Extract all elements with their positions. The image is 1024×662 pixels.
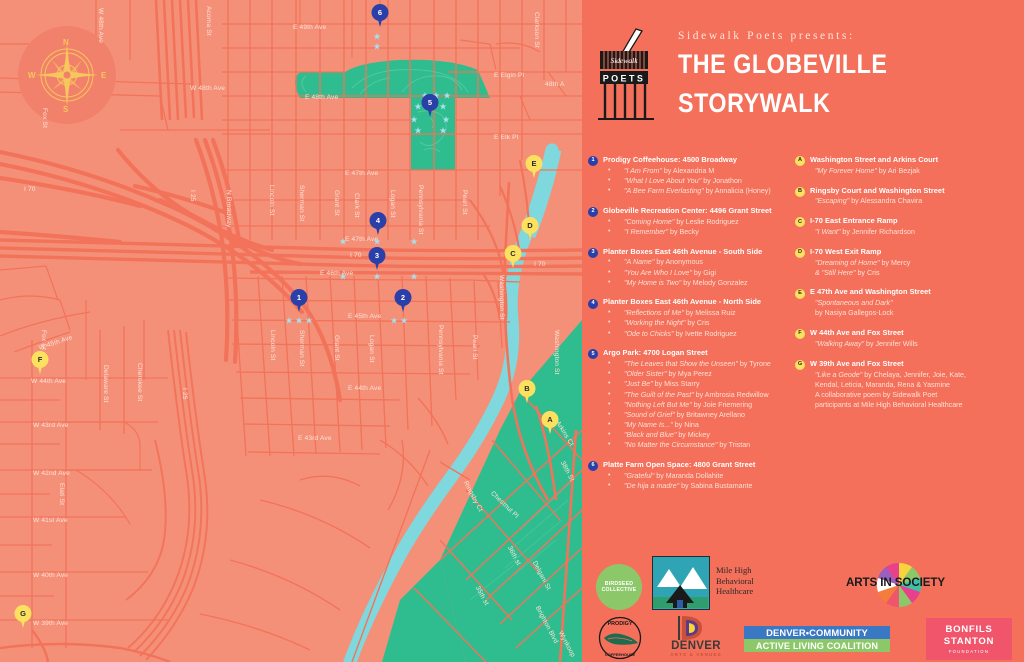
denver-wordmark: DENVER — [656, 640, 736, 652]
page-title-line1: THE GLOBEVILLE — [678, 49, 888, 81]
legend-entry-5[interactable]: 5Argo Park: 4700 Logan Street•"The Leave… — [586, 348, 794, 450]
poem-list: "Walking Away" by Jennifer Wills — [810, 339, 1021, 349]
poem-author: by Nasiya Gallegos-Lock — [815, 309, 893, 317]
poem-title: "Grateful" — [624, 472, 654, 480]
bullet-icon: • — [608, 420, 610, 430]
bonfils-foundation: FOUNDATION — [949, 649, 989, 654]
map-pin-2[interactable]: 2 — [395, 289, 412, 312]
compass-west-label: W — [28, 71, 36, 80]
logo-bonfils-stanton-foundation: BONFILS STANTON FOUNDATION — [926, 618, 1012, 660]
page-title-line2: STORYWALK — [678, 88, 888, 120]
poem-author: by Britawney Arellano — [675, 411, 745, 419]
logo-arts-in-society: ARTS IN SOCIETY — [788, 560, 1010, 610]
legend-entry-C[interactable]: CI-70 East Entrance Ramp"I Want" by Jenn… — [793, 216, 1021, 237]
poem-star-icon: ★ — [410, 238, 419, 247]
poem-item: •"De hija a madre" by Sabina Bustamante — [603, 481, 794, 491]
poem-list: "Spontaneous and Dark"by Nasiya Gallegos… — [810, 298, 1021, 318]
poem-star-icon: ★ — [305, 317, 314, 326]
dcalc-line2: ACTIVE LIVING COALITION — [744, 639, 890, 652]
poem-title: "Dreaming of Home" — [815, 259, 880, 267]
logo-prodigy-coffeehouse: PRODIGY COFFEEHOUSE — [594, 616, 646, 660]
legend-badge: E — [795, 289, 805, 299]
map-pin-4[interactable]: 4 — [370, 212, 387, 235]
bullet-icon: • — [608, 410, 610, 420]
legend-entry-4[interactable]: 4Planter Boxes East 46th Avenue - North … — [586, 297, 794, 338]
svg-text:COFFEEHOUSE: COFFEEHOUSE — [605, 652, 636, 657]
poem-item: •"I Am From" by Alexandria M — [603, 166, 794, 176]
pin-label: 3 — [369, 247, 386, 263]
map-pin-b[interactable]: B — [519, 380, 536, 403]
poem-author: by Mickey — [676, 431, 710, 439]
poem-title: "I Am From" — [624, 167, 662, 175]
mountain-house-icon — [652, 556, 710, 610]
legend-badge: 5 — [588, 349, 598, 359]
bullet-icon: • — [608, 166, 610, 176]
poem-item: & "Still Here" by Cris — [810, 268, 1021, 278]
poem-title: "Walking Away" — [815, 340, 864, 348]
poem-author: by Cris — [856, 269, 880, 277]
map-pin-d[interactable]: D — [522, 217, 539, 240]
poem-author: by Jennifer Wills — [864, 340, 918, 348]
poem-item: •"Grateful" by Maranda Dollahite — [603, 471, 794, 481]
poem-item: "Spontaneous and Dark" — [810, 298, 1021, 308]
poem-star-icon: ★ — [373, 33, 382, 42]
bullet-icon: • — [608, 278, 610, 288]
poem-item: •"A Name" by Anonymous — [603, 257, 794, 267]
legend-entry-G[interactable]: GW 39th Ave and Fox Street"Like a Geode"… — [793, 359, 1021, 410]
poem-item: "Walking Away" by Jennifer Wills — [810, 339, 1021, 349]
bullet-icon: • — [608, 379, 610, 389]
legend-entry-title: Argo Park: 4700 Logan Street — [603, 348, 794, 358]
poem-author: by Tristan — [717, 441, 750, 449]
poster-header: Sidewalk POETS Sidewalk Poets presents: … — [596, 22, 1016, 142]
poem-title: "I Remember" — [624, 228, 668, 236]
bonfils-word2: STANTON — [944, 636, 994, 647]
legend-entry-title: W 39th Ave and Fox Street — [810, 359, 1021, 369]
legend-column-numbers: 1Prodigy Coffeehouse: 4500 Broadway•"I A… — [586, 155, 794, 501]
legend-badge: D — [795, 248, 805, 258]
poem-title: "Reflections of Me" — [624, 309, 684, 317]
pin-label: B — [519, 380, 536, 396]
mhbh-wordmark: Mile HighBehavioralHealthcare — [716, 565, 754, 597]
compass-north-label: N — [63, 38, 69, 47]
legend-entry-E[interactable]: EE 47th Ave and Washington Street"Sponta… — [793, 287, 1021, 318]
poem-author: by Anonymous — [654, 258, 703, 266]
pin-label: 6 — [372, 4, 389, 20]
poem-title: "Coming Home" — [624, 218, 674, 226]
poem-star-icon: ★ — [390, 317, 399, 326]
poem-author: by Melissa Ruiz — [684, 309, 736, 317]
logo-denver-arts-venues: DENVER ARTS & VENUES — [656, 614, 736, 660]
poem-item: Kendal, Leticia, Maranda, Rena & Yasmine — [810, 380, 1021, 390]
legend-entry-6[interactable]: 6Platte Farm Open Space: 4800 Grant Stre… — [586, 460, 794, 491]
legend-entry-title: E 47th Ave and Washington Street — [810, 287, 1021, 297]
poem-author: by Jonathon — [701, 177, 742, 185]
poem-author: by Ari Bezjak — [877, 167, 920, 175]
pin-label: 1 — [291, 289, 308, 305]
storywalk-poster: N E S W W 48th AveE 49th AveE 48th AveE … — [0, 0, 1024, 662]
legend-entry-title: Globeville Recreation Center: 4496 Grant… — [603, 206, 794, 216]
map-pin-e[interactable]: E — [526, 155, 543, 178]
poem-list: "Like a Geode" by Chelaya, Jennifer, Joi… — [810, 370, 1021, 411]
poem-author: by Alessandra Chavira — [849, 197, 922, 205]
poem-item: •"Coming Home" by Leslie Rodriguez — [603, 217, 794, 227]
svg-text:POETS: POETS — [603, 73, 646, 83]
legend-entry-D[interactable]: DI-70 West Exit Ramp"Dreaming of Home" b… — [793, 247, 1021, 278]
pin-label: 5 — [422, 94, 439, 110]
poem-author: by Mercy — [880, 259, 911, 267]
poem-item: A collaborative poem by Sidewalk Poet — [810, 390, 1021, 400]
bullet-icon: • — [608, 227, 610, 237]
denver-subtitle: ARTS & VENUES — [656, 652, 736, 657]
poem-list: •"A Name" by Anonymous•"You Are Who I Lo… — [603, 257, 794, 287]
pin-label: D — [522, 217, 539, 233]
legend-entry-2[interactable]: 2Globeville Recreation Center: 4496 Gran… — [586, 206, 794, 237]
poem-item: •"You Are Who I Love" by Gigi — [603, 268, 794, 278]
poem-item: •"I Remember" by Becky — [603, 227, 794, 237]
poem-author: by Cris — [685, 319, 709, 327]
poem-title: "My Name Is..." — [624, 421, 673, 429]
poem-author: A collaborative poem by Sidewalk Poet — [815, 391, 937, 399]
poem-item: "I Want" by Jennifer Richardson — [810, 227, 1021, 237]
poem-item: •"What I Love About You" by Jonathon — [603, 176, 794, 186]
poem-author: by Annalicia (Honey) — [704, 187, 771, 195]
poem-star-icon: ★ — [285, 317, 294, 326]
poem-item: •"Reflections of Me" by Melissa Ruiz — [603, 308, 794, 318]
poem-title: "My Home is Two" — [624, 279, 681, 287]
legend-badge: G — [795, 360, 805, 370]
legend-badge: 2 — [588, 207, 598, 217]
poem-item: "Escaping" by Alessandra Chavira — [810, 196, 1021, 206]
poem-item: "Like a Geode" by Chelaya, Jennifer, Joi… — [810, 370, 1021, 380]
poem-author: by Jennifer Richardson — [840, 228, 915, 236]
birdseed-label: BIRDSEED COLLECTIVE — [596, 581, 642, 593]
poem-star-icon: ★ — [439, 103, 448, 112]
legend-entry-title: I-70 East Entrance Ramp — [810, 216, 1021, 226]
map-pin-f[interactable]: F — [32, 351, 49, 374]
poem-item: •"The Guilt of the Past" by Ambrosia Red… — [603, 390, 794, 400]
legend-badge: C — [795, 217, 805, 227]
legend-entry-title: Washington Street and Arkins Court — [810, 155, 1021, 165]
map-pin-6[interactable]: 6 — [372, 4, 389, 27]
map-pin-g[interactable]: G — [15, 605, 32, 628]
poem-author: by Alexandria M — [662, 167, 714, 175]
poem-star-icon: ★ — [410, 273, 419, 282]
poem-star-icon: ★ — [373, 43, 382, 52]
poem-title: "No Matter the Circumstance" — [624, 441, 717, 449]
poem-star-icon: ★ — [339, 273, 348, 282]
pin-label: E — [526, 155, 543, 171]
poem-title: "Older Sister" — [624, 370, 667, 378]
svg-text:Sidewalk: Sidewalk — [610, 56, 638, 65]
map-pin-5[interactable]: 5 — [422, 94, 439, 117]
poem-star-icon: ★ — [443, 92, 452, 101]
poem-title: "Just Be" — [624, 380, 653, 388]
poem-author: by Miss Starry — [653, 380, 700, 388]
compass-south-label: S — [63, 105, 68, 114]
poem-star-icon: ★ — [373, 238, 382, 247]
bullet-icon: • — [608, 481, 610, 491]
poem-item: •"Sound of Grief" by Britawney Arellano — [603, 410, 794, 420]
bullet-icon: • — [608, 471, 610, 481]
legend-entry-title: Platte Farm Open Space: 4800 Grant Stree… — [603, 460, 794, 470]
poem-author: by Ambrosia Redwillow — [694, 391, 769, 399]
bullet-icon: • — [608, 369, 610, 379]
logo-mile-high-behavioral-healthcare: Mile HighBehavioralHealthcare — [652, 556, 780, 614]
legend-badge: 1 — [588, 156, 598, 166]
legend-badge: 4 — [588, 299, 598, 309]
poem-author: by Maranda Dollahite — [654, 472, 723, 480]
poem-title: "What I Love About You" — [624, 177, 701, 185]
poem-item: •"My Name Is..." by Nina — [603, 420, 794, 430]
poem-title: "Nothing Left But Me" — [624, 401, 692, 409]
bullet-icon: • — [608, 359, 610, 369]
poem-item: •"Black and Blue" by Mickey — [603, 430, 794, 440]
poem-title: "Spontaneous and Dark" — [815, 299, 893, 307]
logo-denver-community-active-living-coalition: DENVER•COMMUNITY ACTIVE LIVING COALITION — [744, 626, 890, 652]
poem-item: •"Nothing Left But Me" by Joie Friemerin… — [603, 400, 794, 410]
poem-list: "My Forever Home" by Ari Bezjak — [810, 166, 1021, 176]
legend-entry-title: W 44th Ave and Fox Street — [810, 328, 1021, 338]
poem-item: •"Ode to Chicks" by Ivette Rodriguez — [603, 329, 794, 339]
poem-author: by Tyrone — [738, 360, 771, 368]
bullet-icon: • — [608, 268, 610, 278]
pin-label: A — [542, 411, 559, 427]
poem-list: •"The Leaves that Show the Unseen" by Ty… — [603, 359, 794, 450]
map-pin-1[interactable]: 1 — [291, 289, 308, 312]
poem-author: by Becky — [668, 228, 699, 236]
legend-badge: F — [795, 329, 805, 339]
poem-list: "I Want" by Jennifer Richardson — [810, 227, 1021, 237]
poem-author: by Mya Perez — [667, 370, 712, 378]
pin-label: C — [505, 245, 522, 261]
poem-star-icon: ★ — [400, 317, 409, 326]
poem-title: "Black and Blue" — [624, 431, 676, 439]
poem-item: •"Working the Night" by Cris — [603, 318, 794, 328]
poem-list: "Escaping" by Alessandra Chavira — [810, 196, 1021, 206]
bullet-icon: • — [608, 329, 610, 339]
compass-east-label: E — [101, 71, 106, 80]
poem-star-icon: ★ — [295, 317, 304, 326]
poem-title: "Escaping" — [815, 197, 849, 205]
poem-author: by Nina — [673, 421, 699, 429]
poem-star-icon: ★ — [373, 273, 382, 282]
poem-star-icon: ★ — [439, 127, 448, 136]
dcalc-line1: DENVER•COMMUNITY — [744, 626, 890, 639]
poem-author: by Melody Gonzalez — [681, 279, 747, 287]
map-area[interactable]: N E S W W 48th AveE 49th AveE 48th AveE … — [0, 0, 582, 662]
poem-item: participants at Mile High Behavioral Hea… — [810, 400, 1021, 410]
poem-title: "Like a Geode" — [815, 371, 862, 379]
poem-author: by Chelaya, Jennifer, Joie, Kate, — [862, 371, 966, 379]
bullet-icon: • — [608, 257, 610, 267]
bullet-icon: • — [608, 186, 610, 196]
poem-title: "The Guilt of the Past" — [624, 391, 694, 399]
poem-author: by Gigi — [692, 269, 716, 277]
poem-author: by Joie Friemering — [692, 401, 752, 409]
bullet-icon: • — [608, 400, 610, 410]
poem-item: •"The Leaves that Show the Unseen" by Ty… — [603, 359, 794, 369]
presents-line: Sidewalk Poets presents: — [678, 30, 916, 42]
sponsor-logos: BIRDSEED COLLECTIVE Mile HighBehavi — [582, 552, 1024, 662]
poem-author: by Sabina Bustamante — [679, 482, 752, 490]
legend-entry-title: Ringsby Court and Washington Street — [810, 186, 1021, 196]
bullet-icon: • — [608, 430, 610, 440]
poem-star-icon: ★ — [339, 238, 348, 247]
legend-entry-F[interactable]: FW 44th Ave and Fox Street"Walking Away"… — [793, 328, 1021, 349]
poem-star-icon: ★ — [414, 127, 423, 136]
poem-author: by Ivette Rodriguez — [674, 330, 737, 338]
legend-entry-title: Planter Boxes East 46th Avenue - South S… — [603, 247, 794, 257]
logo-marquee-icon: Sidewalk POETS — [596, 27, 658, 127]
poem-title: "A Bee Farm Everlasting" — [624, 187, 704, 195]
bullet-icon: • — [608, 390, 610, 400]
bullet-icon: • — [608, 318, 610, 328]
legend-entry-1[interactable]: 1Prodigy Coffeehouse: 4500 Broadway•"I A… — [586, 155, 794, 196]
poem-star-icon: ★ — [442, 116, 451, 125]
map-pin-a[interactable]: A — [542, 411, 559, 434]
poem-author: participants at Mile High Behavioral Hea… — [815, 401, 962, 409]
poem-item: "Dreaming of Home" by Mercy — [810, 258, 1021, 268]
pin-label: 4 — [370, 212, 387, 228]
poem-author: by Leslie Rodriguez — [674, 218, 738, 226]
logo-birdseed-collective: BIRDSEED COLLECTIVE — [596, 564, 642, 610]
legend-entry-3[interactable]: 3Planter Boxes East 46th Avenue - South … — [586, 247, 794, 288]
map-pin-3[interactable]: 3 — [369, 247, 386, 270]
poem-title: "Sound of Grief" — [624, 411, 675, 419]
mhbh-mark-icon — [653, 557, 708, 608]
poem-list: •"I Am From" by Alexandria M•"What I Lov… — [603, 166, 794, 196]
pin-label: 2 — [395, 289, 412, 305]
poem-item: •"My Home is Two" by Melody Gonzalez — [603, 278, 794, 288]
prodigy-badge-icon: PRODIGY COFFEEHOUSE — [594, 616, 646, 660]
legend-badge: 3 — [588, 248, 598, 258]
legend-entry-title: Prodigy Coffeehouse: 4500 Broadway — [603, 155, 794, 165]
denver-d-icon — [674, 614, 718, 642]
poem-title: "A Name" — [624, 258, 654, 266]
poem-title: & "Still Here" — [815, 269, 856, 277]
legend-badge: 6 — [588, 461, 598, 471]
legend-entry-title: Planter Boxes East 46th Avenue - North S… — [603, 297, 794, 307]
sidewalk-poets-logo: Sidewalk POETS — [596, 27, 658, 127]
poem-item: •"A Bee Farm Everlasting" by Annalicia (… — [603, 186, 794, 196]
poem-item: •"No Matter the Circumstance" by Tristan — [603, 440, 794, 450]
bullet-icon: • — [608, 176, 610, 186]
poem-title: "Working the Night" — [624, 319, 685, 327]
poem-list: "Dreaming of Home" by Mercy& "Still Here… — [810, 258, 1021, 278]
poem-item: "My Forever Home" by Ari Bezjak — [810, 166, 1021, 176]
poem-list: •"Reflections of Me" by Melissa Ruiz•"Wo… — [603, 308, 794, 338]
bonfils-word1: BONFILS — [945, 624, 992, 635]
legend-entry-A[interactable]: AWashington Street and Arkins Court"My F… — [793, 155, 1021, 176]
title-block: Sidewalk Poets presents: THE GLOBEVILLE … — [678, 30, 916, 119]
poem-title: "I Want" — [815, 228, 840, 236]
poem-item: by Nasiya Gallegos-Lock — [810, 308, 1021, 318]
poem-list: •"Coming Home" by Leslie Rodriguez•"I Re… — [603, 217, 794, 237]
compass-rose: N E S W — [18, 26, 116, 124]
bullet-icon: • — [608, 440, 610, 450]
poem-star-icon: ★ — [410, 116, 419, 125]
poem-author: Kendal, Leticia, Maranda, Rena & Yasmine — [815, 381, 950, 389]
legend-column-letters: AWashington Street and Arkins Court"My F… — [793, 155, 1021, 420]
pin-label: F — [32, 351, 49, 367]
map-pin-c[interactable]: C — [505, 245, 522, 268]
poem-list: •"Grateful" by Maranda Dollahite•"De hij… — [603, 471, 794, 491]
poem-item: •"Older Sister" by Mya Perez — [603, 369, 794, 379]
poem-item: •"Just Be" by Miss Starry — [603, 379, 794, 389]
legend-badge: B — [795, 187, 805, 197]
arts-in-society-wordmark: ARTS IN SOCIETY — [846, 576, 945, 589]
svg-text:PRODIGY: PRODIGY — [608, 621, 633, 627]
poem-title: "You Are Who I Love" — [624, 269, 692, 277]
poem-title: "The Leaves that Show the Unseen" — [624, 360, 738, 368]
bullet-icon: • — [608, 217, 610, 227]
poem-title: "De hija a madre" — [624, 482, 679, 490]
poem-title: "Ode to Chicks" — [624, 330, 674, 338]
poem-title: "My Forever Home" — [815, 167, 877, 175]
info-panel: Sidewalk POETS Sidewalk Poets presents: … — [582, 0, 1024, 662]
bullet-icon: • — [608, 308, 610, 318]
legend-badge: A — [795, 156, 805, 166]
legend-entry-title: I-70 West Exit Ramp — [810, 247, 1021, 257]
legend-entry-B[interactable]: BRingsby Court and Washington Street"Esc… — [793, 186, 1021, 207]
pin-label: G — [15, 605, 32, 621]
